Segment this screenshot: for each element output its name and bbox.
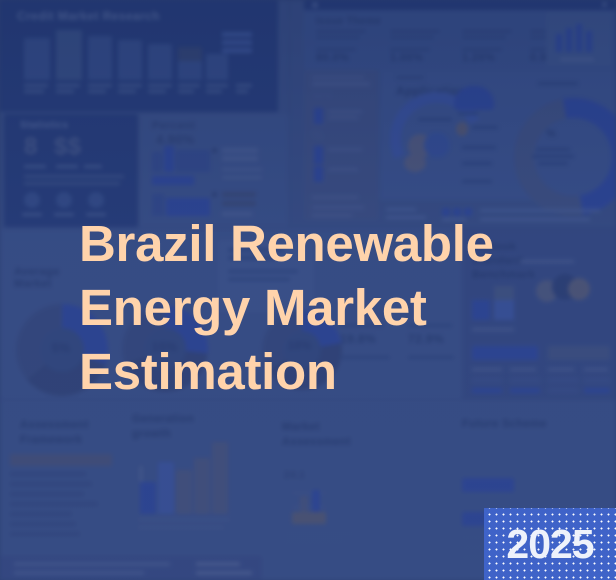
page-title-line-3: Estimation xyxy=(79,340,509,404)
page-title-line-1: Brazil Renewable xyxy=(79,212,509,276)
year-badge: 2025 xyxy=(484,508,616,580)
page-title: Brazil Renewable Energy Market Estimatio… xyxy=(79,212,509,404)
page-title-line-2: Energy Market xyxy=(79,276,509,340)
year-badge-label: 2025 xyxy=(506,524,593,565)
report-cover-image: Credit Market Research xyxy=(0,0,616,580)
